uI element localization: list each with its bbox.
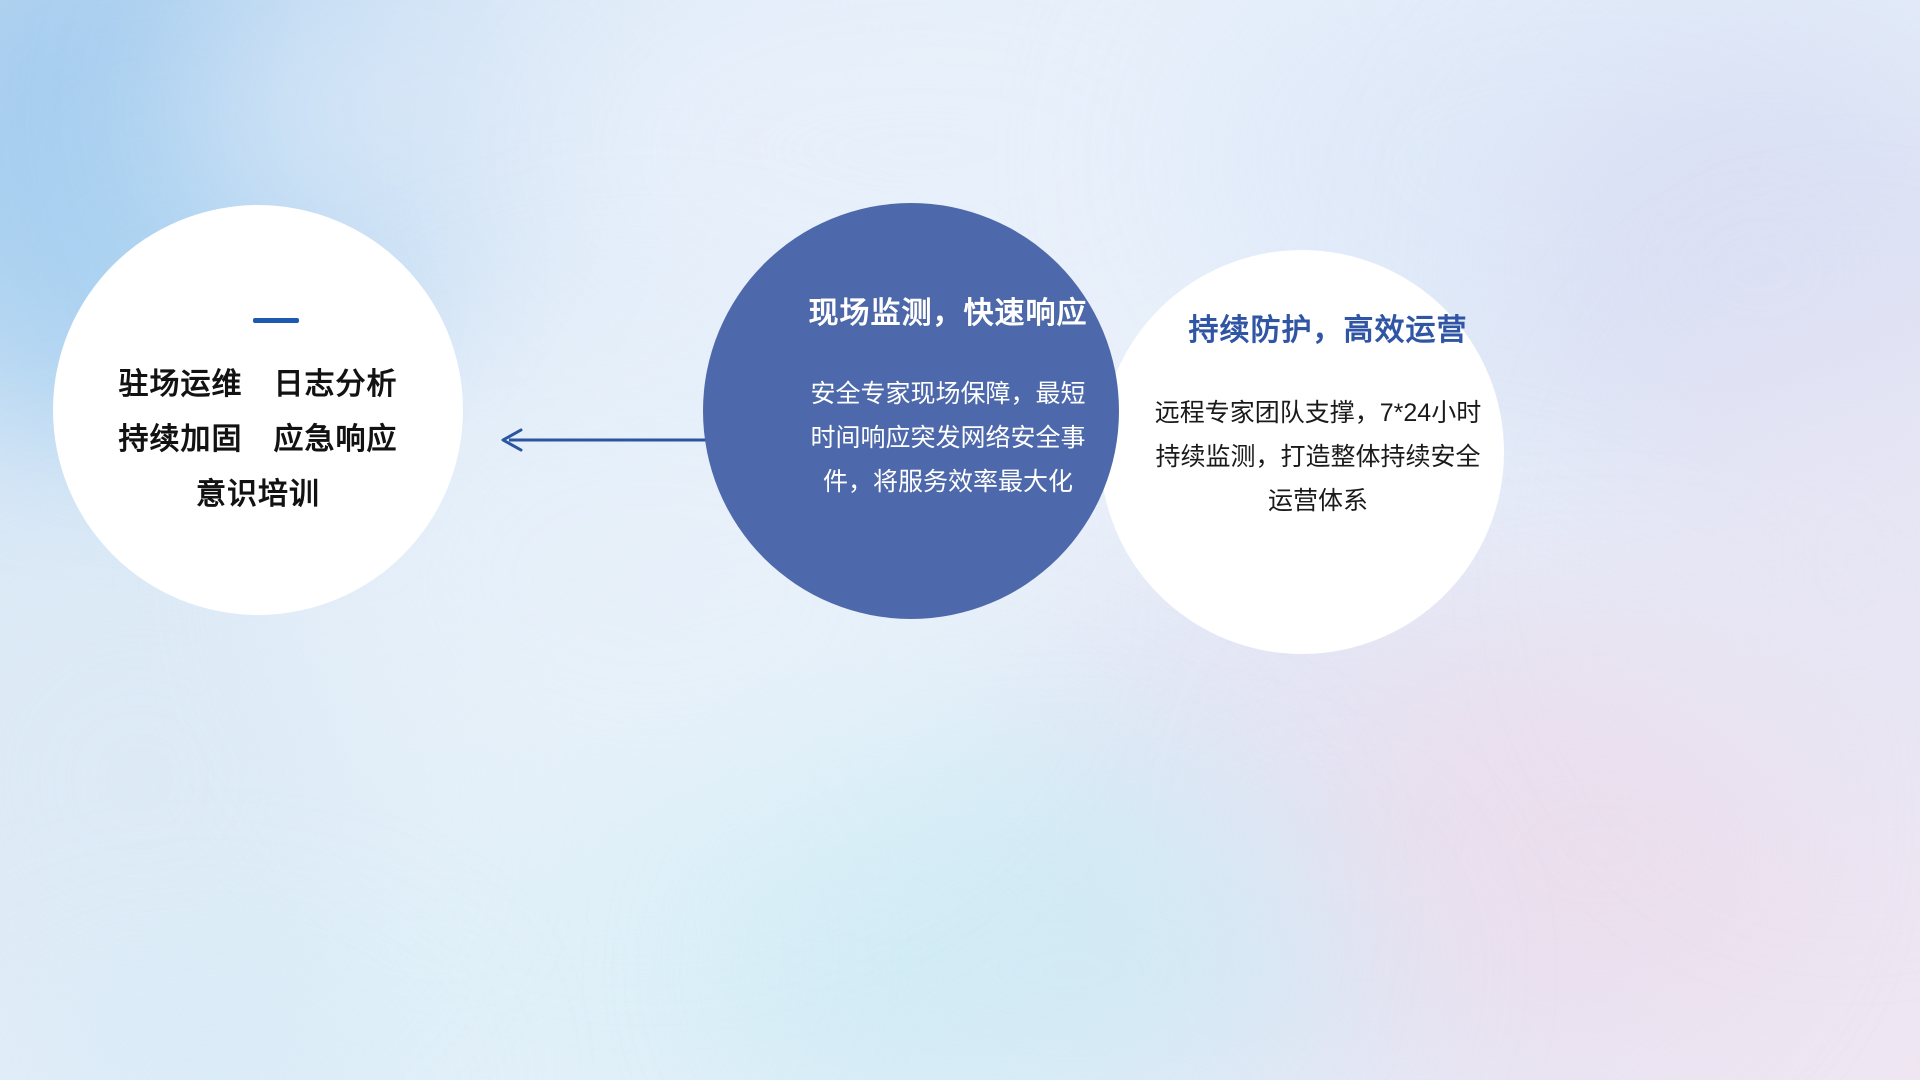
continuous-protection-body: 远程专家团队支撑，7*24小时持续监测，打造整体持续安全运营体系	[1146, 391, 1491, 523]
onsite-monitoring-circle[interactable]: 现场监测，快速响应 安全专家现场保障，最短时间响应突发网络安全事件，将服务效率最…	[703, 203, 1119, 619]
divider-dash	[253, 318, 299, 323]
capability-line-2: 持续加固 应急响应	[119, 412, 398, 467]
slide-canvas: 驻场运维 日志分析 持续加固 应急响应 意识培训 持续防护，高效运营 远程专家团…	[0, 0, 1920, 1080]
capability-line-3: 意识培训	[196, 467, 320, 522]
onsite-monitoring-title: 现场监测，快速响应	[809, 288, 1088, 332]
onsite-monitoring-body: 安全专家现场保障，最短时间响应突发网络安全事件，将服务效率最大化	[809, 372, 1087, 504]
capability-circle[interactable]: 驻场运维 日志分析 持续加固 应急响应 意识培训	[53, 205, 463, 615]
continuous-protection-title: 持续防护，高效运营	[1189, 305, 1468, 349]
capability-line-1: 驻场运维 日志分析	[119, 357, 398, 412]
continuous-protection-circle[interactable]: 持续防护，高效运营 远程专家团队支撑，7*24小时持续监测，打造整体持续安全运营…	[1100, 250, 1504, 654]
